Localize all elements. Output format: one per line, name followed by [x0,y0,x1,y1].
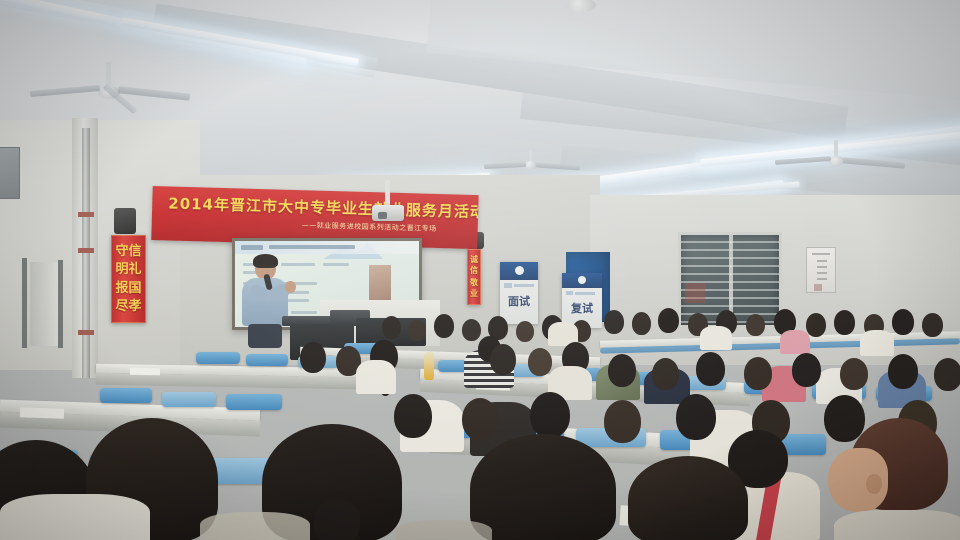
slide-photo-thumbnail [369,265,391,301]
foreground-head-center-right [470,434,616,540]
rollup-right-logo-icon [566,291,573,295]
center-slogan-line-3: 敬 [470,279,478,287]
slide-title-text-2 [269,245,355,249]
audience-head [530,392,570,438]
slogan-line-1: 守信 [115,245,141,258]
rollup-right-logo-text [575,292,595,295]
audience-person-foreground-right [838,418,960,540]
blind-slat [681,265,782,267]
wall-pipe-left [82,128,90,378]
audience-head [834,310,855,335]
audience-head [300,342,326,373]
slogan-line-4: 尽孝 [115,300,141,313]
audience-head [922,313,943,337]
wall-speaker-left [114,208,136,234]
wall-control-box [0,147,20,199]
lecture-hall-photo: 2014年晋江市大中专毕业生就业服务月活动 ——就业服务进校园系列活动之晋江专场… [0,0,960,540]
poster-text-line [817,266,827,268]
foreground-torso-white-left [0,494,150,540]
blind-slat [681,273,782,275]
audience-head [462,398,498,440]
rollup-left-char: 面试 [500,296,538,307]
blind-slat [681,249,782,251]
banner-sub-text: ——就业服务进校园系列活动之晋江专场 [302,220,437,234]
blind-slat [681,241,782,243]
poster-photo-icon [814,284,822,291]
ceiling-projector [372,205,404,221]
chair-back[interactable] [196,352,240,364]
presenter-legs [248,324,282,348]
poster-text-line [812,253,830,255]
chair-back[interactable] [246,354,288,366]
audience-head [528,348,552,376]
audience-head [394,394,432,438]
poster-text-line [817,260,827,262]
foreground-right-ear-icon [866,474,882,494]
center-pillar-slogan-banner: 诚 信 敬 业 [467,249,481,305]
rollup-left-logo-icon [504,283,512,288]
presenter-speaker [238,256,294,346]
presenter-glasses-icon [256,265,275,268]
foreground-right-shoulder [834,510,960,540]
poster-text-line [817,278,827,280]
chair-back[interactable] [162,392,216,407]
slogan-line-3: 报国 [115,282,141,295]
presenter-hand-right [285,281,296,293]
audience-head [806,313,826,337]
audience-head [490,344,516,375]
wall-pipe-2 [22,258,27,348]
blind-slat [681,257,782,259]
center-slogan-line-4: 业 [470,290,478,298]
audience-head [746,314,765,336]
audience-head [604,400,641,443]
wall-pipe-3 [58,260,63,348]
left-wall-slogan-banner: 守信 明礼 报国 尽孝 [111,235,146,323]
rollup-left-logo-text [514,284,534,287]
poster-text-line [817,272,827,274]
chair-back[interactable] [226,394,282,410]
pipe-clamp-1 [78,212,94,217]
audience-head [892,309,914,335]
notebook-paper [20,407,64,419]
wall-notice-poster [806,247,836,293]
slide-text-line [323,263,349,266]
center-slogan-line-1: 诚 [470,256,478,264]
audience-head [632,312,651,335]
slide-title-text [241,245,263,250]
audience-head [658,308,679,333]
rollup-left-badge-icon [515,266,524,275]
foreground-ponytail-center [314,500,360,540]
notebook-paper [130,368,160,376]
foreground-head-right [628,456,748,540]
foreground-shoulder-fill [396,520,492,540]
projector-lens-icon [378,212,387,219]
pipe-clamp-2 [78,248,94,253]
foreground-shoulder-fill [200,512,310,540]
banner-main-text: 2014年晋江市大中专毕业生就业服务月活动 [168,192,479,222]
rollup-right-badge-icon [578,276,586,284]
pipe-clamp-3 [78,330,94,335]
projector-mount-pole [385,180,390,208]
wall-duct [30,262,58,346]
chair-back[interactable] [100,388,152,403]
center-slogan-line-2: 信 [470,267,478,275]
slide-text-line [291,311,317,314]
slogan-line-2: 明礼 [115,263,141,276]
